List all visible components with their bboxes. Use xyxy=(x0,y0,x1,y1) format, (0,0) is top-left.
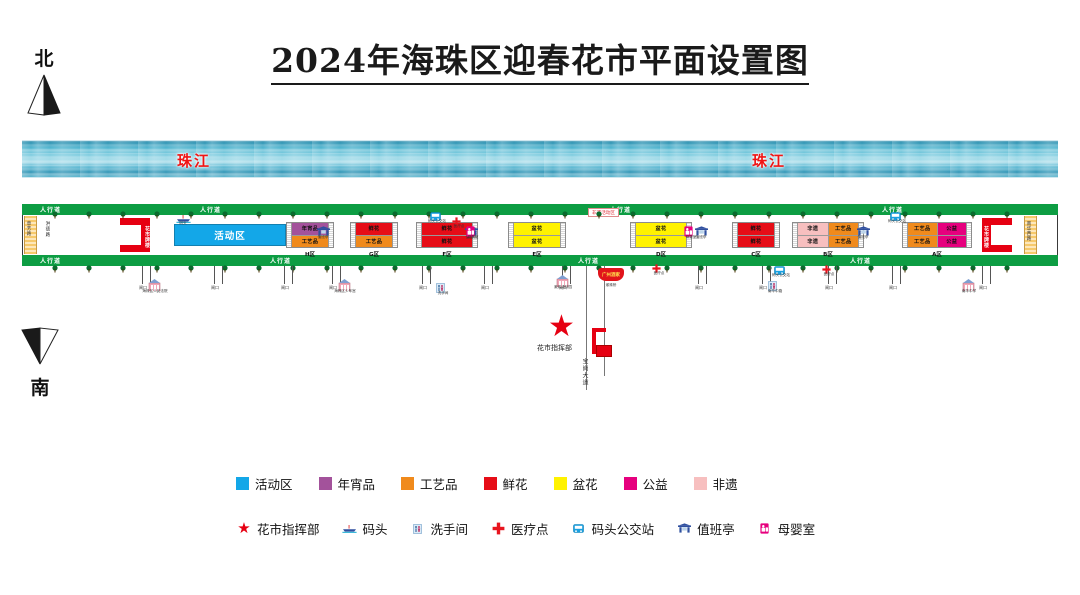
baby-room-label: 母婴室 xyxy=(456,235,490,240)
zone-a-cell[interactable]: 公益 xyxy=(938,236,967,248)
road-nanhuaxi: 南华西路 xyxy=(1024,216,1037,254)
river-label-left: 珠江 xyxy=(177,150,211,171)
street-tree-icon xyxy=(596,258,602,265)
street-tree-icon xyxy=(970,204,976,211)
archway-left: 花市牌楼 xyxy=(120,218,150,252)
legend-color-row: 活动区年宵品工艺品鲜花盆花公益非遗 xyxy=(236,474,837,493)
legend-icon-item: 码头 xyxy=(342,519,388,538)
street-tree-icon xyxy=(494,204,500,211)
archway-left-label: 花市牌楼 xyxy=(144,226,149,248)
street-tree-icon xyxy=(936,258,942,265)
entrance-gate-label: 闸口 xyxy=(211,285,219,291)
bus-label: 码头公交站 xyxy=(880,219,914,224)
zone-c-caption: C区 xyxy=(733,250,779,258)
red-small-sign xyxy=(596,345,612,357)
street-tree-icon xyxy=(528,258,534,265)
legend-label: 医疗点 xyxy=(511,519,549,538)
street-tree-icon xyxy=(222,204,228,211)
red-star-icon: ★ xyxy=(236,522,252,535)
sidewalk-label-top-2: 人行道 xyxy=(200,205,221,214)
legend-label: 洗手间 xyxy=(431,519,469,538)
street-tree-icon xyxy=(392,204,398,211)
entrance-gate-label: 闸口 xyxy=(481,285,489,291)
legend-icon-item: 码头公交站 xyxy=(571,519,655,538)
entrance-gate-line xyxy=(900,266,901,284)
street-tree-icon xyxy=(732,204,738,211)
wc-label: 南华中路 xyxy=(758,289,792,294)
legend-color-item: 盆花 xyxy=(554,474,598,493)
zone-a[interactable]: 工艺品公益工艺品公益A区 xyxy=(902,222,972,248)
zone-a-caption: A区 xyxy=(903,250,971,258)
legend-swatch xyxy=(236,477,249,490)
street-tree-icon xyxy=(1004,204,1010,211)
street-tree-icon xyxy=(392,258,398,265)
zone-b-cell[interactable]: 非遗 xyxy=(798,236,829,248)
river-label-right: 珠江 xyxy=(752,150,786,171)
medical-cross-icon xyxy=(490,522,506,535)
page-title: 2024年海珠区迎春花市平面设置图 xyxy=(0,34,1080,82)
street-tree-icon xyxy=(528,204,534,211)
legend-label: 工艺品 xyxy=(420,474,458,493)
legend-icon-item: ★花市指挥部 xyxy=(236,519,320,538)
entrance-gate-line xyxy=(698,266,699,284)
street-tree-icon xyxy=(460,204,466,211)
street-tree-icon xyxy=(290,258,296,265)
road-hongde-label: 洪德路 xyxy=(44,221,50,238)
legend-label: 值班亭 xyxy=(697,519,735,538)
legend-icon-row: ★花市指挥部码头洗手间医疗点码头公交站值班亭母婴室 xyxy=(236,519,837,538)
zone-g-row: 鲜花 xyxy=(356,223,392,236)
shop-sign: 广州酒家 xyxy=(598,268,624,281)
legend-swatch xyxy=(694,477,707,490)
zone-e-end-right xyxy=(560,223,565,247)
pier-label: 码头 xyxy=(166,221,200,226)
street-tree-icon xyxy=(154,204,160,211)
street-tree-icon xyxy=(562,258,568,265)
street-tree-icon xyxy=(664,258,670,265)
legend-icon-item: 母婴室 xyxy=(757,519,816,538)
flower-market-floor-plan: 2024年海珠区迎春花市平面设置图 北 南 珠江 珠江 人行道 人行道 人行道 … xyxy=(0,0,1080,595)
entrance-gate-line xyxy=(430,266,431,284)
feiyi-activity-box[interactable]: 非遗活动区 xyxy=(588,208,619,217)
shop-sign-caption: 漱珠桥 xyxy=(596,283,626,288)
entrance-gate-line xyxy=(990,266,991,284)
entrance-gate-label: 闸口 xyxy=(695,285,703,291)
duty-booth-icon xyxy=(676,522,692,535)
street-tree-icon xyxy=(426,258,432,265)
street-tree-icon xyxy=(800,258,806,265)
legend-label: 母婴室 xyxy=(778,519,816,538)
street-tree-icon xyxy=(154,258,160,265)
legend-color-item: 公益 xyxy=(624,474,668,493)
road-nanhuaxi-label: 南华西路 xyxy=(1025,216,1031,241)
legend-color-item: 鲜花 xyxy=(484,474,528,493)
street-tree-icon xyxy=(834,258,840,265)
entrance-gate-line xyxy=(422,266,423,284)
legend-label: 码头 xyxy=(363,519,388,538)
entrance-gate-line xyxy=(284,266,285,284)
street-tree-icon xyxy=(460,258,466,265)
street-tree-icon xyxy=(120,204,126,211)
zone-e[interactable]: 盆花盆花E区 xyxy=(508,222,566,248)
zone-d-cell[interactable]: 盆花 xyxy=(636,223,686,235)
street-tree-icon xyxy=(52,258,58,265)
street-tree-icon xyxy=(188,258,194,265)
zone-g-end-right xyxy=(392,223,397,247)
street-tree-icon xyxy=(732,258,738,265)
zone-a-row: 工艺品公益 xyxy=(908,236,966,248)
shop-sign-label: 广州酒家 xyxy=(602,272,620,278)
legend-icon-item: 值班亭 xyxy=(676,519,735,538)
street-tree-icon xyxy=(562,204,568,211)
entrance-gate-line xyxy=(892,266,893,284)
entrance-gate-line xyxy=(484,266,485,284)
legend-label: 公益 xyxy=(643,474,668,493)
entrance-gate-line xyxy=(292,266,293,284)
command-post-star-icon: ★ xyxy=(548,312,575,342)
wc-icon xyxy=(410,522,426,535)
compass-south: 南 xyxy=(8,326,72,400)
zone-a-cell[interactable]: 公益 xyxy=(938,223,967,235)
legend-label: 码头公交站 xyxy=(592,519,655,538)
street-tree-icon xyxy=(324,258,330,265)
zone-e-row: 盆花 xyxy=(514,223,560,236)
street-tree-icon xyxy=(120,258,126,265)
legend-label: 非遗 xyxy=(713,474,738,493)
street-tree-icon xyxy=(664,204,670,211)
page-title-text: 2024年海珠区迎春花市平面设置图 xyxy=(271,41,809,85)
entrance-gate-line xyxy=(492,266,493,284)
activity-area-block[interactable]: 活动区 xyxy=(174,224,286,246)
zone-a-cell[interactable]: 工艺品 xyxy=(908,236,938,248)
entrance-gate-line xyxy=(332,266,333,284)
legend-label: 花市指挥部 xyxy=(257,519,320,538)
zone-f-caption: F区 xyxy=(417,250,477,258)
compass-north-arrow-icon xyxy=(24,73,64,117)
zone-a-end-right xyxy=(966,223,971,247)
entrance-gate-line xyxy=(982,266,983,284)
legend-label: 年宵品 xyxy=(338,474,376,493)
street-tree-icon xyxy=(766,204,772,211)
legend-label: 盆花 xyxy=(573,474,598,493)
archway-right: 花市牌楼 xyxy=(982,218,1012,252)
zone-b-row: 非遗工艺品 xyxy=(798,223,858,236)
compass-south-arrow-icon xyxy=(18,326,62,366)
zone-c-cell[interactable]: 鲜花 xyxy=(738,236,774,248)
duty-booth-label: 值班亭 xyxy=(846,235,880,240)
zone-g-caption: G区 xyxy=(351,250,397,258)
street-tree-icon xyxy=(222,258,228,265)
compass-south-label: 南 xyxy=(8,373,72,400)
street-tree-icon xyxy=(256,204,262,211)
legend: 活动区年宵品工艺品鲜花盆花公益非遗 ★花市指挥部码头洗手间医疗点码头公交站值班亭… xyxy=(236,474,837,538)
entrance-gate-line xyxy=(142,266,143,284)
duty-booth-label: 值班亭 xyxy=(306,235,340,240)
building-label: 漱珠涌科园 xyxy=(546,285,580,290)
baby-room-icon xyxy=(757,522,773,535)
command-post-label: 花市指挥部 xyxy=(537,343,572,353)
street-tree-icon xyxy=(358,204,364,211)
zone-d-row: 盆花 xyxy=(636,223,686,236)
zone-e-cell[interactable]: 盆花 xyxy=(514,223,560,235)
zone-b-cell[interactable]: 非遗 xyxy=(798,223,829,235)
legend-swatch xyxy=(554,477,567,490)
zone-c[interactable]: 鲜花鲜花C区 xyxy=(732,222,780,248)
zone-e-cell[interactable]: 盆花 xyxy=(514,236,560,248)
zone-d-caption: D区 xyxy=(631,250,691,258)
entrance-gate-label: 闸口 xyxy=(825,285,833,291)
legend-color-item: 活动区 xyxy=(236,474,293,493)
zone-g-cell[interactable]: 鲜花 xyxy=(356,223,392,235)
legend-swatch xyxy=(401,477,414,490)
street-tree-icon xyxy=(868,204,874,211)
legend-label: 鲜花 xyxy=(503,474,528,493)
entrance-gate-line xyxy=(222,266,223,284)
baby-room-label: 母婴室 xyxy=(674,235,708,240)
entrance-gate-line xyxy=(706,266,707,284)
pier-icon xyxy=(342,522,358,535)
zone-b-cell[interactable]: 工艺品 xyxy=(829,223,859,235)
legend-color-item: 工艺品 xyxy=(401,474,458,493)
street-tree-icon xyxy=(902,204,908,211)
medical-label: 医疗点 xyxy=(812,272,846,277)
pearl-river-band: 珠江 珠江 xyxy=(22,140,1058,178)
street-tree-icon xyxy=(324,204,330,211)
street-tree-icon xyxy=(970,258,976,265)
entrance-gate-label: 闸口 xyxy=(281,285,289,291)
archway-right-label: 花市牌楼 xyxy=(983,226,988,248)
street-tree-icon xyxy=(86,204,92,211)
street-tree-icon xyxy=(936,204,942,211)
zone-c-end-right xyxy=(774,223,779,247)
street-tree-icon xyxy=(902,258,908,265)
bus-label: 码头公交站 xyxy=(764,273,798,278)
zone-c-row: 鲜花 xyxy=(738,236,774,248)
entrance-gate-line xyxy=(570,266,571,284)
street-tree-icon xyxy=(698,258,704,265)
street-tree-icon xyxy=(800,204,806,211)
bus-stop-icon xyxy=(571,522,587,535)
street-tree-icon xyxy=(290,204,296,211)
street-tree-icon xyxy=(494,258,500,265)
street-tree-icon xyxy=(698,204,704,211)
street-tree-icon xyxy=(596,204,602,211)
zone-h-caption: H区 xyxy=(287,250,333,258)
street-tree-icon xyxy=(1004,258,1010,265)
building-label: 海珠区少年宫 xyxy=(328,289,362,294)
zone-g-row: 工艺品 xyxy=(356,236,392,248)
zone-g-cell[interactable]: 工艺品 xyxy=(356,236,392,248)
legend-swatch xyxy=(624,477,637,490)
legend-icon-item: 医疗点 xyxy=(490,519,549,538)
street-tree-icon xyxy=(868,258,874,265)
street-tree-icon xyxy=(52,204,58,211)
legend-label: 活动区 xyxy=(255,474,293,493)
building-label: 海珠区人民法院 xyxy=(138,289,172,294)
zone-g[interactable]: 鲜花工艺品G区 xyxy=(350,222,398,248)
entrance-gate-line xyxy=(762,266,763,284)
legend-color-item: 年宵品 xyxy=(319,474,376,493)
compass-north: 北 xyxy=(12,44,76,121)
entrance-gate-label: 闸口 xyxy=(889,285,897,291)
legend-swatch xyxy=(319,477,332,490)
entrance-gate-line xyxy=(214,266,215,284)
street-tree-icon xyxy=(358,258,364,265)
legend-color-item: 非遗 xyxy=(694,474,738,493)
zone-b-caption: B区 xyxy=(793,250,863,258)
legend-swatch xyxy=(484,477,497,490)
zone-e-row: 盆花 xyxy=(514,236,560,248)
street-tree-icon xyxy=(766,258,772,265)
activity-area-label: 活动区 xyxy=(214,228,246,242)
zone-e-caption: E区 xyxy=(509,250,565,258)
road-caofang-label: 草芳路 xyxy=(25,216,31,236)
medical-label: 医疗点 xyxy=(642,271,676,276)
zone-c-row: 鲜花 xyxy=(738,223,774,236)
zone-a-row: 工艺品公益 xyxy=(908,223,966,236)
road-caofang: 草芳路 xyxy=(24,216,37,254)
wc-label: 洗手间 xyxy=(426,291,460,296)
compass-north-label: 北 xyxy=(12,44,76,71)
avenue-label: 宝岗大道 xyxy=(580,358,589,386)
zone-a-cell[interactable]: 工艺品 xyxy=(908,223,938,235)
street-tree-icon xyxy=(256,258,262,265)
zone-c-cell[interactable]: 鲜花 xyxy=(738,223,774,235)
building-label: 南华中学 xyxy=(952,289,986,294)
street-tree-icon xyxy=(86,258,92,265)
street-tree-icon xyxy=(630,258,636,265)
street-tree-icon xyxy=(834,204,840,211)
street-tree-icon xyxy=(630,204,636,211)
legend-icon-item: 洗手间 xyxy=(410,519,469,538)
